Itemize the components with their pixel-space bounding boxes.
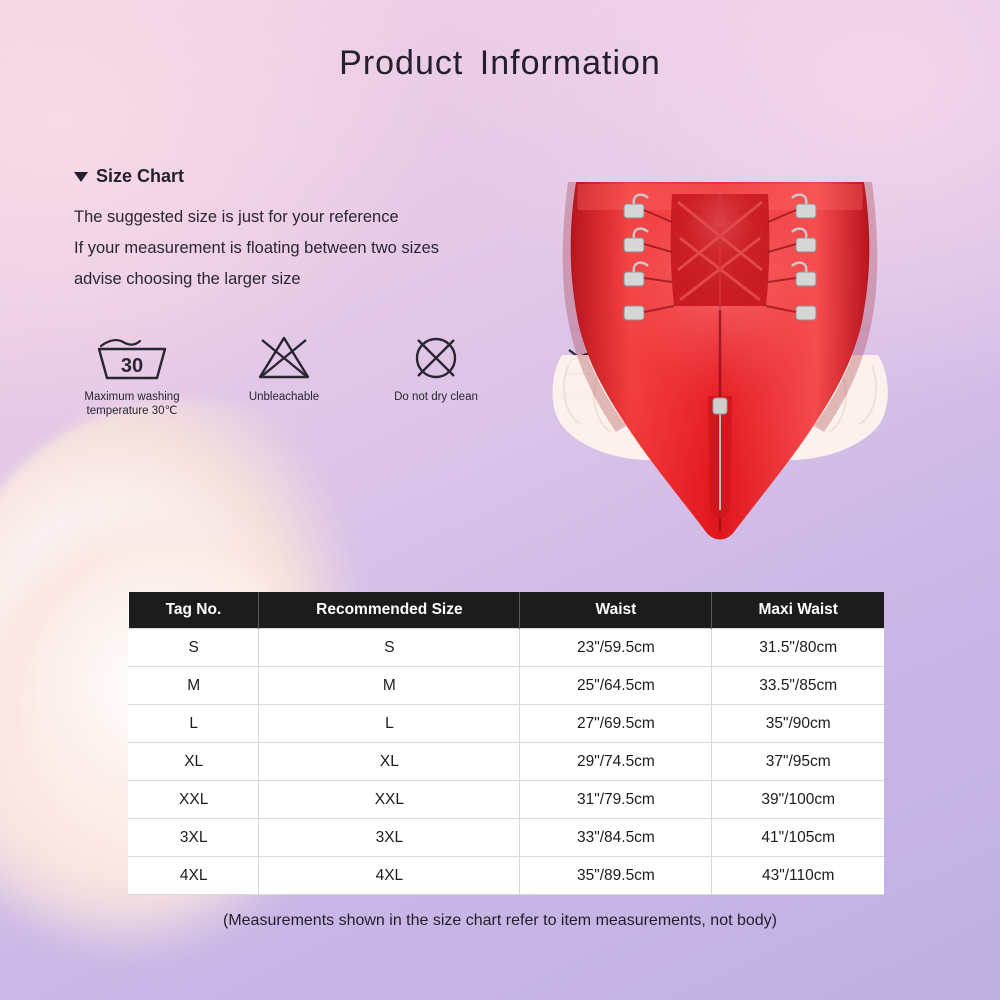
svg-text:30: 30 (121, 355, 143, 377)
table-header-maxi-waist: Maxi Waist (712, 592, 884, 629)
cell-waist: 35"/89.5cm (520, 857, 712, 895)
table-row: L L 27"/69.5cm 35"/90cm (129, 705, 885, 743)
cell-tag-no: 4XL (129, 857, 259, 895)
cell-waist: 25"/64.5cm (520, 667, 712, 705)
table-header-tag-no: Tag No. (129, 592, 259, 629)
care-item-wash-30: 30 Maximum washingtemperature 30℃ (78, 330, 186, 418)
size-table-container: Tag No. Recommended Size Waist Maxi Wais… (128, 592, 884, 895)
cell-waist: 29"/74.5cm (520, 743, 712, 781)
cell-tag-no: 3XL (129, 819, 259, 857)
cell-recommended-size: M (259, 667, 520, 705)
cell-tag-no: XL (129, 743, 259, 781)
table-header-recommended-size: Recommended Size (259, 592, 520, 629)
table-header-waist: Waist (520, 592, 712, 629)
care-label-do-not-dry-clean: Do not dry clean (394, 390, 478, 404)
care-item-unbleachable: Unbleachable (230, 330, 338, 418)
size-table: Tag No. Recommended Size Waist Maxi Wais… (128, 592, 884, 895)
size-notes: The suggested size is just for your refe… (74, 202, 439, 295)
table-row: XL XL 29"/74.5cm 37"/95cm (129, 743, 885, 781)
measurements-footnote: (Measurements shown in the size chart re… (0, 912, 1000, 930)
size-note-line: The suggested size is just for your refe… (74, 202, 439, 233)
cell-maxi-waist: 41"/105cm (712, 819, 884, 857)
unbleachable-triangle-icon (253, 330, 315, 382)
cell-recommended-size: XL (259, 743, 520, 781)
care-label-wash-30: Maximum washingtemperature 30℃ (84, 390, 179, 418)
cell-recommended-size: L (259, 705, 520, 743)
product-photo (520, 160, 920, 560)
cell-waist: 31"/79.5cm (520, 781, 712, 819)
page-title: Product Information (0, 44, 1000, 83)
care-label-unbleachable: Unbleachable (249, 390, 319, 404)
cell-recommended-size: XXL (259, 781, 520, 819)
cell-waist: 23"/59.5cm (520, 629, 712, 667)
cell-maxi-waist: 43"/110cm (712, 857, 884, 895)
table-row: S S 23"/59.5cm 31.5"/80cm (129, 629, 885, 667)
table-row: M M 25"/64.5cm 33.5"/85cm (129, 667, 885, 705)
cell-maxi-waist: 37"/95cm (712, 743, 884, 781)
cell-waist: 27"/69.5cm (520, 705, 712, 743)
size-chart-label: Size Chart (96, 166, 184, 187)
cell-tag-no: L (129, 705, 259, 743)
cell-maxi-waist: 35"/90cm (712, 705, 884, 743)
size-note-line: advise choosing the larger size (74, 264, 439, 295)
cell-maxi-waist: 31.5"/80cm (712, 629, 884, 667)
table-row: 3XL 3XL 33"/84.5cm 41"/105cm (129, 819, 885, 857)
care-item-do-not-dry-clean: Do not dry clean (382, 330, 490, 418)
size-note-line: If your measurement is floating between … (74, 233, 439, 264)
cell-waist: 33"/84.5cm (520, 819, 712, 857)
cell-recommended-size: 3XL (259, 819, 520, 857)
cell-recommended-size: S (259, 629, 520, 667)
cell-maxi-waist: 39"/100cm (712, 781, 884, 819)
table-row: 4XL 4XL 35"/89.5cm 43"/110cm (129, 857, 885, 895)
cell-tag-no: S (129, 629, 259, 667)
wash-tub-30-icon: 30 (93, 330, 171, 382)
table-row: XXL XXL 31"/79.5cm 39"/100cm (129, 781, 885, 819)
do-not-dry-clean-circle-icon (407, 330, 465, 382)
product-information-page: Product Information Size Chart The sugge… (0, 0, 1000, 1000)
cell-recommended-size: 4XL (259, 857, 520, 895)
triangle-down-icon (74, 172, 88, 182)
cell-tag-no: XXL (129, 781, 259, 819)
table-header-row: Tag No. Recommended Size Waist Maxi Wais… (129, 592, 885, 629)
cell-tag-no: M (129, 667, 259, 705)
cell-maxi-waist: 33.5"/85cm (712, 667, 884, 705)
size-chart-heading: Size Chart (74, 166, 184, 187)
